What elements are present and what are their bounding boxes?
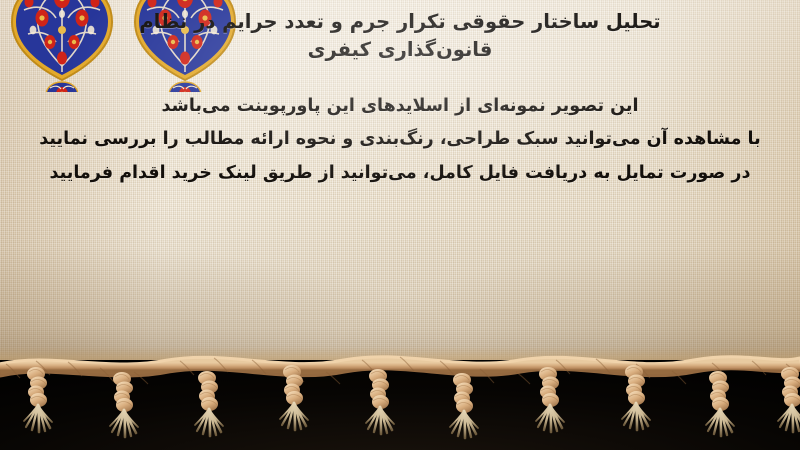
presentation-slide: تحلیل ساختار حقوقی تکرار جرم و تعدد جرای… [0,0,800,450]
slide-body: این تصویر نمونه‌ای از اسلایدهای این پاور… [30,89,770,190]
tassel [195,371,223,436]
tassel [450,373,478,438]
tassel [536,367,564,432]
slide-text-area: تحلیل ساختار حقوقی تکرار جرم و تعدد جرای… [0,0,800,372]
tassel [778,367,800,432]
slide-body-line-1: این تصویر نمونه‌ای از اسلایدهای این پاور… [30,89,770,123]
rope-tassel-fringe-svg [0,352,800,450]
tassel [366,369,394,434]
slide-title-line-2: قانون‌گذاری کیفری [30,36,770,64]
parchment-background: تحلیل ساختار حقوقی تکرار جرم و تعدد جرای… [0,0,800,372]
tassel [706,371,734,436]
slide-body-line-2: با مشاهده آن می‌توانید سبک طراحی، رنگ‌بن… [30,123,770,157]
rope-tassel-fringe [0,352,800,450]
slide-title: تحلیل ساختار حقوقی تکرار جرم و تعدد جرای… [30,8,770,63]
slide-title-line-1: تحلیل ساختار حقوقی تکرار جرم و تعدد جرای… [30,8,770,36]
tassel [24,367,52,432]
slide-body-line-3: در صورت تمایل به دریافت فایل کامل، می‌تو… [30,157,770,191]
tassel [110,372,138,437]
